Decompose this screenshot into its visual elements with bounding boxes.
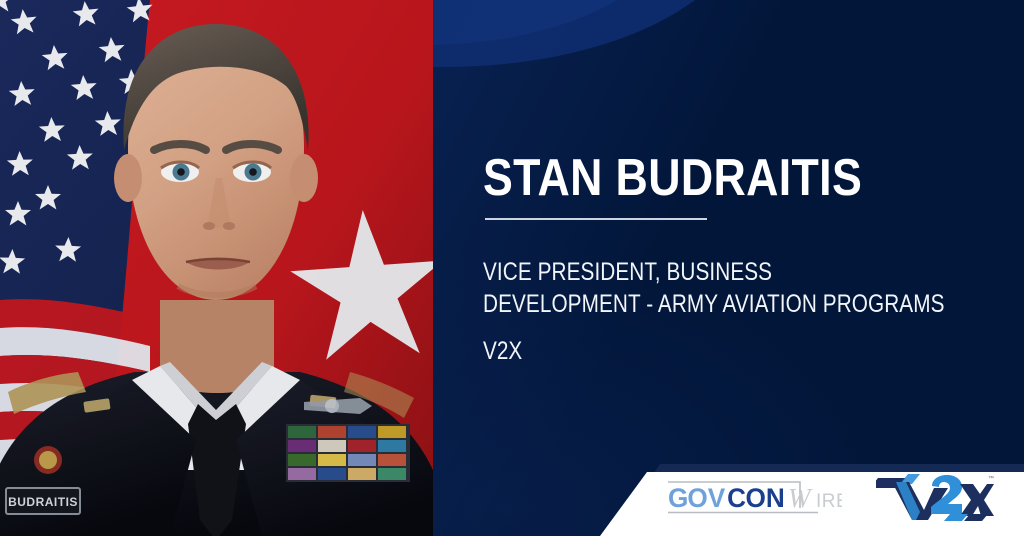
svg-text:V: V: [708, 483, 726, 513]
person-company: V2X: [483, 336, 522, 366]
svg-text:O: O: [687, 483, 707, 513]
title-divider: [485, 218, 707, 220]
person-name: STAN BUDRAITIS: [483, 152, 862, 204]
person-title: VICE PRESIDENT, BUSINESS DEVELOPMENT - A…: [483, 256, 945, 320]
person-title-line-1: VICE PRESIDENT, BUSINESS: [483, 256, 945, 288]
v2x-logo-mark: ™: [876, 470, 994, 522]
govconwire-logo-mark: G O V C O N W IRE: [666, 478, 842, 518]
svg-text:O: O: [746, 483, 766, 513]
portrait-photo: BUDRAITIS: [0, 0, 433, 536]
trademark-symbol: ™: [988, 475, 994, 482]
govconwire-logo[interactable]: G O V C O N W IRE: [666, 478, 842, 518]
svg-text:G: G: [668, 483, 688, 513]
person-title-line-2: DEVELOPMENT - ARMY AVIATION PROGRAMS: [483, 288, 945, 320]
svg-text:W: W: [788, 483, 813, 513]
svg-text:C: C: [727, 483, 746, 513]
svg-text:N: N: [766, 483, 784, 513]
svg-text:IRE: IRE: [816, 491, 842, 512]
portrait-illustration: BUDRAITIS: [0, 0, 433, 536]
profile-card: BUDRAITIS STAN BUDRAITIS VICE PRESIDENT,…: [0, 0, 1024, 536]
v2x-logo[interactable]: ™: [876, 470, 994, 522]
